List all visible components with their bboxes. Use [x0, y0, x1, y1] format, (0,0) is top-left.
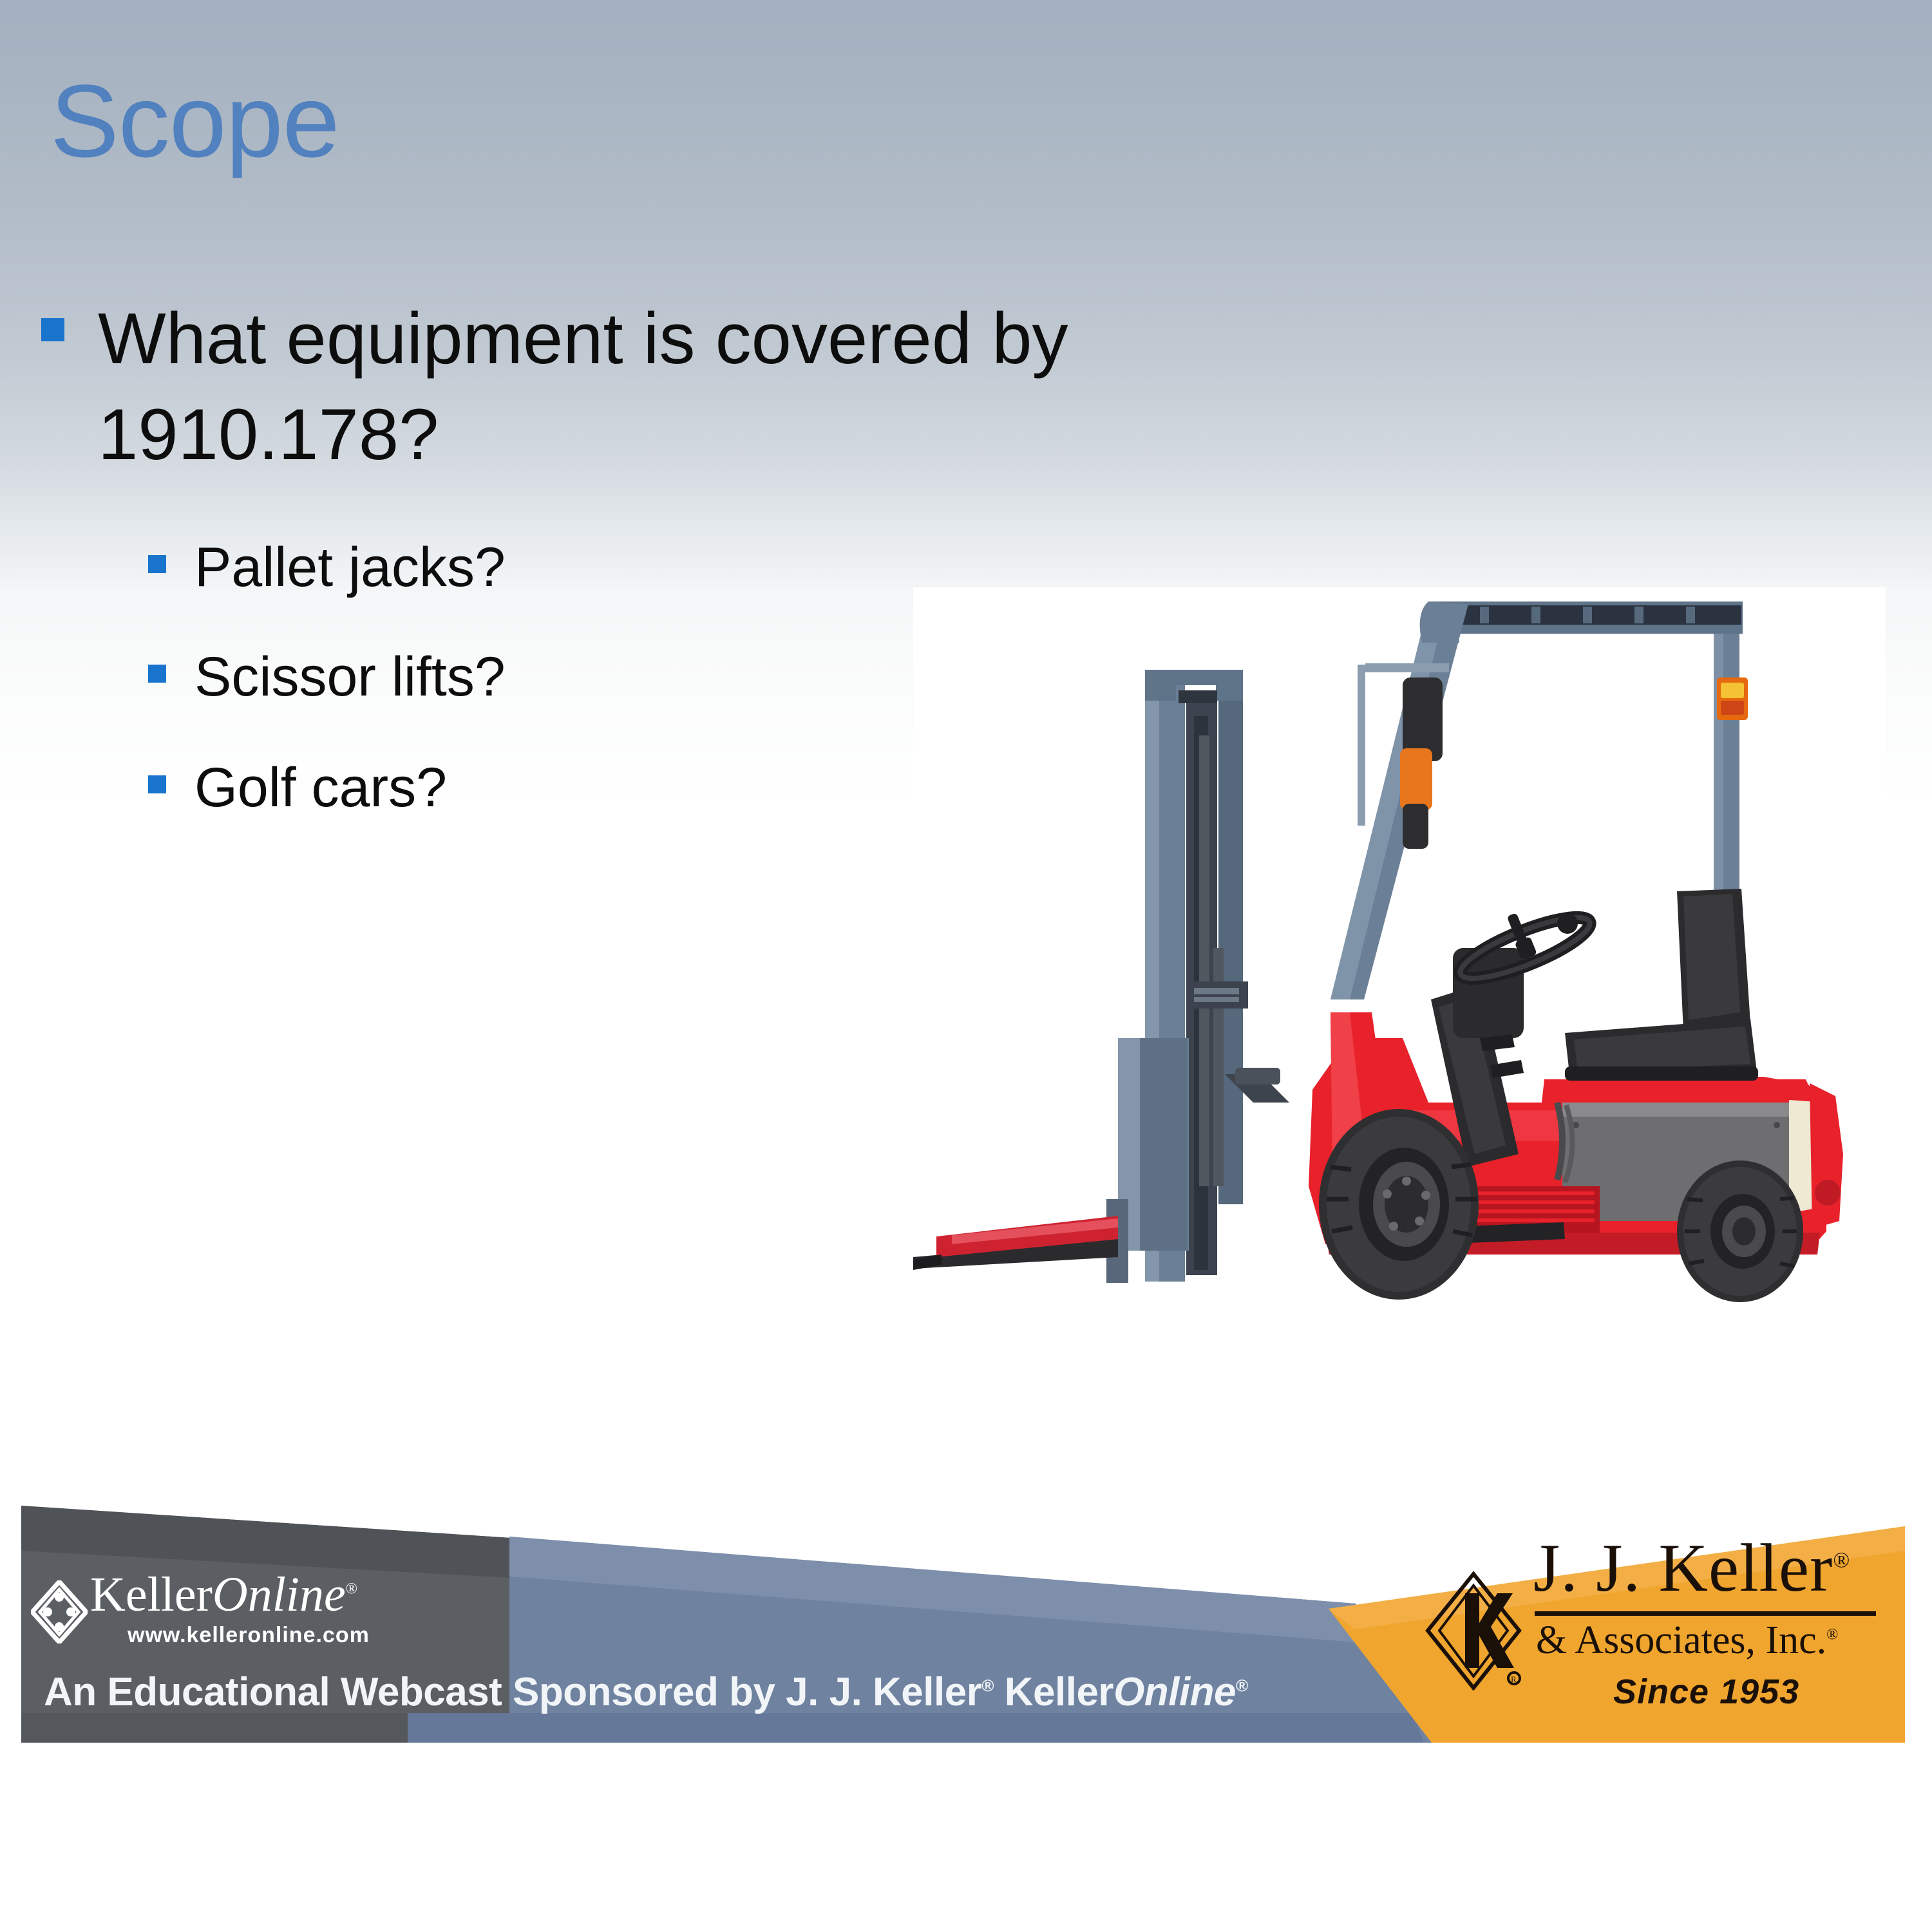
bullet-level2-label: Pallet jacks?: [194, 535, 985, 601]
list-item: Golf cars?: [148, 755, 985, 821]
bullet-level2-label: Scissor lifts?: [194, 644, 985, 710]
jj-keller-associates-mark: ®: [1826, 1626, 1838, 1643]
kelleronline-logo: KellerOnline® www.kelleronline.com: [31, 1567, 404, 1658]
keller-diamond-icon: [31, 1580, 88, 1643]
kelleronline-registered-mark: ®: [346, 1581, 357, 1598]
footer-tagline: An Educational Webcast Sponsored by J. J…: [44, 1669, 1248, 1715]
kelleronline-keller-text: Keller: [90, 1567, 213, 1622]
jj-keller-logo: R J. J. Keller® & Associates, Inc.® Sinc…: [1425, 1533, 1889, 1726]
list-item: Pallet jacks?: [148, 535, 985, 601]
jj-keller-name-text: J. J. Keller: [1533, 1530, 1833, 1605]
tagline-brand-online: Online: [1113, 1670, 1236, 1714]
jj-keller-trademark: ®: [1833, 1549, 1850, 1573]
bullet-level1-label: What equipment is covered by 1910.178?: [98, 291, 1262, 483]
slide-footer: KellerOnline® www.kelleronline.com An Ed…: [21, 1501, 1905, 1743]
tagline-mark-1: ®: [981, 1676, 994, 1695]
jj-keller-since: Since 1953: [1613, 1672, 1799, 1712]
bullet-square-icon: [148, 555, 166, 573]
tagline-mark-2: ®: [1236, 1676, 1248, 1695]
kelleronline-online-text: Online: [213, 1567, 346, 1622]
svg-text:R: R: [1511, 1674, 1517, 1684]
tagline-prefix: An Educational Webcast Sponsored by J. J…: [44, 1670, 981, 1714]
jj-keller-divider: [1535, 1611, 1876, 1616]
list-item: Scissor lifts?: [148, 644, 985, 710]
forklift-image: [913, 587, 1886, 1315]
jj-keller-associates-text: & Associates, Inc.: [1536, 1618, 1826, 1662]
jj-keller-name: J. J. Keller®: [1533, 1534, 1850, 1602]
kelleronline-url: www.kelleronline.com: [128, 1623, 370, 1648]
presentation-slide: Scope What equipment is covered by 1910.…: [0, 0, 1932, 1932]
kelleronline-wordmark: KellerOnline®: [90, 1570, 357, 1619]
list-item: What equipment is covered by 1910.178?: [39, 291, 1262, 483]
bullet-square-icon: [148, 665, 166, 683]
bullet-square-icon: [41, 318, 64, 341]
bullet-square-icon: [148, 775, 166, 793]
jj-keller-associates: & Associates, Inc.®: [1536, 1620, 1838, 1660]
jj-keller-diamond-k-icon: R: [1425, 1571, 1522, 1690]
tagline-brand-keller: Keller: [994, 1670, 1113, 1714]
bullet-level2-label: Golf cars?: [194, 755, 985, 821]
page-title: Scope: [50, 70, 339, 173]
